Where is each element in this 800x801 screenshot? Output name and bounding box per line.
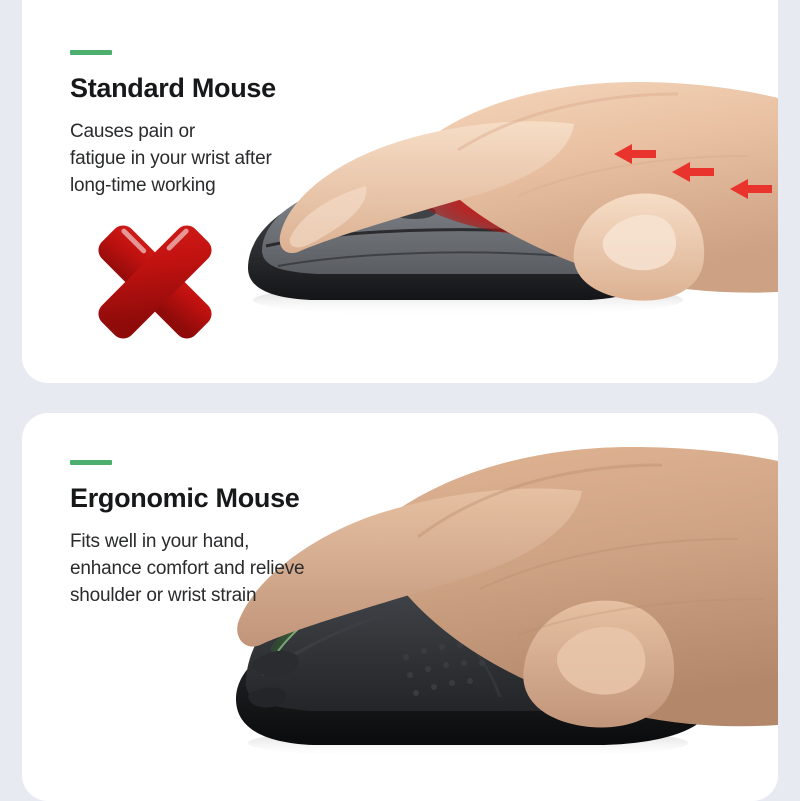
panel-ergonomic-mouse: Ergonomic Mouse Fits well in your hand, … bbox=[22, 413, 778, 801]
red-arrow-1 bbox=[614, 144, 656, 164]
ergonomic-mouse-text-block: Ergonomic Mouse Fits well in your hand, … bbox=[70, 460, 304, 609]
accent-dash-standard bbox=[70, 50, 112, 55]
red-arrow-3 bbox=[730, 179, 772, 199]
standard-mouse-description: Causes pain or fatigue in your wrist aft… bbox=[70, 118, 276, 199]
accent-dash-ergonomic bbox=[70, 460, 112, 465]
red-strain-arrows bbox=[612, 140, 778, 210]
comparison-infographic: Standard Mouse Causes pain or fatigue in… bbox=[0, 0, 800, 800]
red-arrow-2 bbox=[672, 162, 714, 182]
cross-mark-icon bbox=[80, 198, 230, 366]
panel-ergonomic-content: Ergonomic Mouse Fits well in your hand, … bbox=[22, 413, 778, 801]
page-title-ergonomic: Ergonomic Mouse bbox=[70, 484, 304, 514]
standard-mouse-text-block: Standard Mouse Causes pain or fatigue in… bbox=[70, 50, 276, 199]
page-title-standard: Standard Mouse bbox=[70, 74, 276, 104]
cross-mark-shape bbox=[80, 198, 230, 366]
red-arrow-set bbox=[612, 140, 778, 210]
ergonomic-mouse-description: Fits well in your hand, enhance comfort … bbox=[70, 528, 304, 609]
panel-standard-mouse: Standard Mouse Causes pain or fatigue in… bbox=[22, 0, 778, 383]
panel-standard-content: Standard Mouse Causes pain or fatigue in… bbox=[22, 0, 778, 383]
